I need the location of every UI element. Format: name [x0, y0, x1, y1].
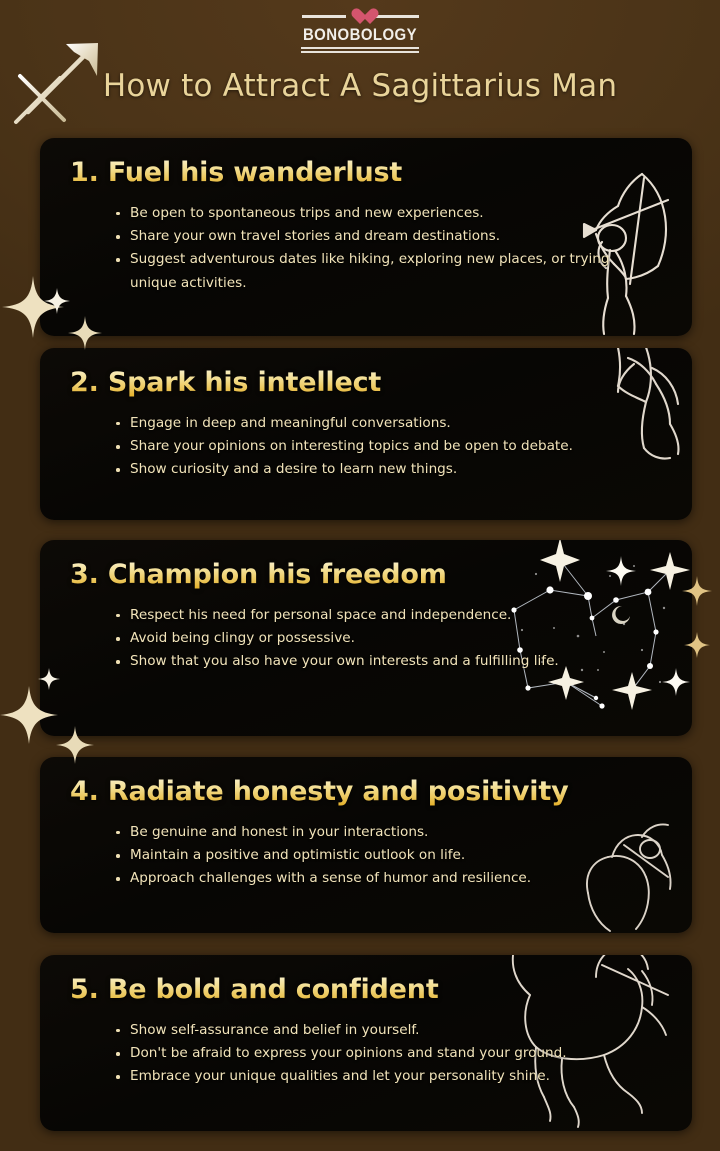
brand-name: BONOBOLOGY: [290, 25, 431, 45]
tip-card-5-content: 5. Be bold and confident Show self-assur…: [40, 955, 692, 1103]
tip-card-3-number: 3.: [70, 559, 99, 590]
heart-icon: [351, 8, 370, 25]
tip-card-1-bullets: Be open to spontaneous trips and new exp…: [70, 202, 666, 296]
list-item: Avoid being clingy or possessive.: [116, 627, 666, 650]
logo-underline-2: [301, 51, 419, 53]
logo-rule-right: [375, 15, 419, 18]
list-item: Suggest adventurous dates like hiking, e…: [116, 248, 666, 295]
list-item: Respect his need for personal space and …: [116, 604, 666, 627]
tip-card-5-number: 5.: [70, 974, 99, 1005]
tip-card-1-content: 1. Fuel his wanderlust Be open to sponta…: [40, 138, 692, 309]
tip-card-2-title: Spark his intellect: [108, 367, 381, 398]
tip-card-4: 4. Radiate honesty and positivity Be gen…: [40, 757, 692, 933]
header: BONOBOLOGY How to Attract A Sagittarius …: [0, 0, 720, 130]
logo-underline-1: [301, 47, 419, 49]
tip-card-4-title: Radiate honesty and positivity: [108, 776, 569, 807]
tip-card-2: 2. Spark his intellect Engage in deep an…: [40, 348, 692, 520]
tip-card-1: 1. Fuel his wanderlust Be open to sponta…: [40, 138, 692, 336]
tip-card-2-content: 2. Spark his intellect Engage in deep an…: [40, 348, 692, 496]
tip-card-3-title: Champion his freedom: [108, 559, 447, 590]
tip-card-1-heading: 1. Fuel his wanderlust: [70, 158, 666, 188]
page-title: How to Attract A Sagittarius Man: [0, 68, 720, 104]
list-item: Embrace your unique qualities and let yo…: [116, 1065, 666, 1088]
tip-card-5-heading: 5. Be bold and confident: [70, 975, 666, 1005]
tip-card-4-bullets: Be genuine and honest in your interactio…: [70, 821, 666, 891]
tip-card-4-heading: 4. Radiate honesty and positivity: [70, 777, 666, 807]
tip-card-2-heading: 2. Spark his intellect: [70, 368, 666, 398]
list-item: Engage in deep and meaningful conversati…: [116, 412, 666, 435]
tip-card-5-title: Be bold and confident: [108, 974, 439, 1005]
list-item: Show self-assurance and belief in yourse…: [116, 1019, 666, 1042]
list-item: Show curiosity and a desire to learn new…: [116, 458, 666, 481]
list-item: Show that you also have your own interes…: [116, 650, 666, 673]
list-item: Approach challenges with a sense of humo…: [116, 867, 666, 890]
list-item: Maintain a positive and optimistic outlo…: [116, 844, 666, 867]
list-item: Be open to spontaneous trips and new exp…: [116, 202, 666, 225]
tip-card-3: 3. Champion his freedom Respect his need…: [40, 540, 692, 736]
tip-card-5-bullets: Show self-assurance and belief in yourse…: [70, 1019, 666, 1089]
list-item: Be genuine and honest in your interactio…: [116, 821, 666, 844]
brand-logo: BONOBOLOGY: [280, 8, 440, 53]
tip-card-3-content: 3. Champion his freedom Respect his need…: [40, 540, 692, 688]
logo-top-rules: [280, 8, 440, 24]
tip-card-1-title: Fuel his wanderlust: [108, 157, 402, 188]
tip-card-4-content: 4. Radiate honesty and positivity Be gen…: [40, 757, 692, 905]
logo-rule-left: [302, 15, 346, 18]
list-item: Share your opinions on interesting topic…: [116, 435, 666, 458]
infographic-page: BONOBOLOGY How to Attract A Sagittarius …: [0, 0, 720, 1151]
tip-card-2-bullets: Engage in deep and meaningful conversati…: [70, 412, 666, 482]
tip-card-3-heading: 3. Champion his freedom: [70, 560, 666, 590]
tip-card-5: 5. Be bold and confident Show self-assur…: [40, 955, 692, 1131]
tip-card-3-bullets: Respect his need for personal space and …: [70, 604, 666, 674]
tip-card-4-number: 4.: [70, 776, 99, 807]
tip-card-2-number: 2.: [70, 367, 99, 398]
list-item: Share your own travel stories and dream …: [116, 225, 666, 248]
list-item: Don't be afraid to express your opinions…: [116, 1042, 666, 1065]
tip-card-1-number: 1.: [70, 157, 99, 188]
